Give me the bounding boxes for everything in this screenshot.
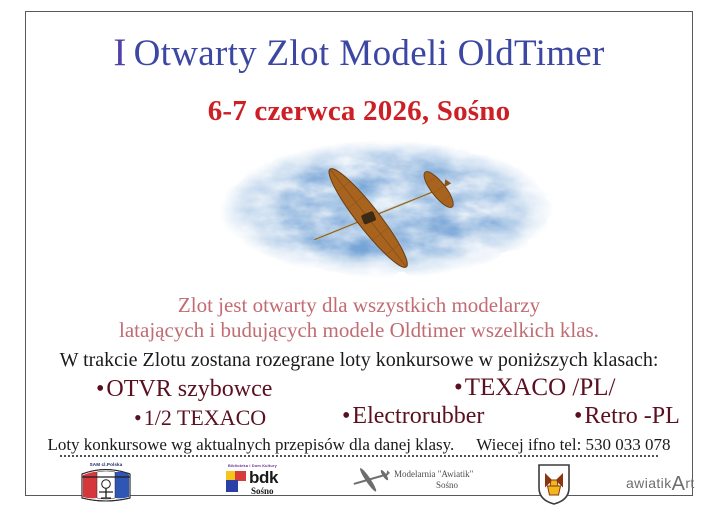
glider-photo-canvas (211, 138, 561, 280)
rules-note: Loty konkursowe wg aktualnych przepisów … (47, 435, 454, 454)
class-label: OTVR szybowce (106, 376, 272, 402)
awiatikart-wordmark: awiatikArt (626, 474, 695, 493)
body-line-1: Zlot jest otwarty dla wszystkich modelar… (26, 293, 692, 318)
awiatikart-part-a: awiatik (626, 475, 672, 491)
body-line-2: latających i budujących modele Oldtimer … (26, 318, 692, 343)
poster-root: IOtwarty ZlotModeli OldTimer 6-7 czerwca… (0, 0, 720, 509)
title-numeral: I (113, 31, 133, 74)
contact-note: Wiecej ifno tel: 530 033 078 (476, 435, 670, 454)
bdk-city-label: Sośno (251, 486, 274, 496)
bullet-icon: • (454, 374, 465, 401)
title-text-part2: Modeli OldTimer (339, 33, 604, 74)
bdk-yellow-square-icon (226, 471, 235, 480)
sam-polska-logo: SAM cl.Polska (74, 462, 138, 506)
modelarnia-city: Sośno (436, 480, 458, 491)
gmina-sosno-coat-of-arms (536, 462, 572, 506)
footer-note: Loty konkursowe wg aktualnych przepisów … (26, 435, 692, 455)
sponsor-logo-strip: SAM cl.Polska (54, 462, 664, 507)
class-label: Retro -PL (584, 403, 679, 429)
class-item-electrorubber: •Electrorubber (342, 403, 484, 430)
bullet-icon: • (134, 405, 144, 430)
awiatikart-part-c: rt (685, 475, 694, 491)
glider-silhouette-icon (350, 466, 392, 492)
body-line-3: W trakcie Zlotu zostana rozegrane loty k… (26, 348, 692, 372)
glider-photo (211, 138, 561, 280)
page-title: IOtwarty ZlotModeli OldTimer (26, 31, 692, 76)
competition-class-list: •OTVR szybowce •TEXACO /PL/ •1/2 TEXACO … (62, 374, 656, 432)
dotted-divider (60, 455, 658, 460)
class-label: 1/2 TEXACO (144, 405, 266, 430)
title-text-part1: Otwarty Zlot (134, 33, 330, 74)
sam-polska-emblem (74, 462, 138, 506)
class-item-half-texaco: •1/2 TEXACO (134, 405, 266, 431)
awiatikart-logo: awiatikArt (626, 474, 720, 498)
modelarnia-awiatik-logo: Modelarnia "Awiatik" Sośno (350, 466, 490, 500)
class-label: Electrorubber (352, 403, 484, 429)
class-item-otvr: •OTVR szybowce (96, 376, 272, 403)
bullet-icon: • (574, 403, 584, 429)
class-item-retro-pl: •Retro -PL (574, 403, 680, 430)
awiatikart-part-b: A (672, 473, 686, 495)
class-item-texaco-pl: •TEXACO /PL/ (454, 374, 615, 402)
modelarnia-name: Modelarnia "Awiatik" (394, 469, 473, 480)
windmill-shield-icon (536, 462, 572, 506)
sam-polska-caption: SAM cl.Polska (74, 462, 138, 468)
poster-frame: IOtwarty ZlotModeli OldTimer 6-7 czerwca… (25, 11, 693, 496)
bullet-icon: • (96, 376, 106, 402)
bdk-sosno-logo: Biblioteka i Dom Kultury bdk Sośno (204, 464, 296, 504)
event-date-location: 6-7 czerwca 2026, Sośno (26, 94, 692, 128)
bullet-icon: • (342, 403, 352, 429)
class-label: TEXACO /PL/ (465, 374, 616, 401)
bdk-blue-square-icon (226, 480, 238, 492)
bdk-wordmark: bdk (249, 469, 278, 487)
